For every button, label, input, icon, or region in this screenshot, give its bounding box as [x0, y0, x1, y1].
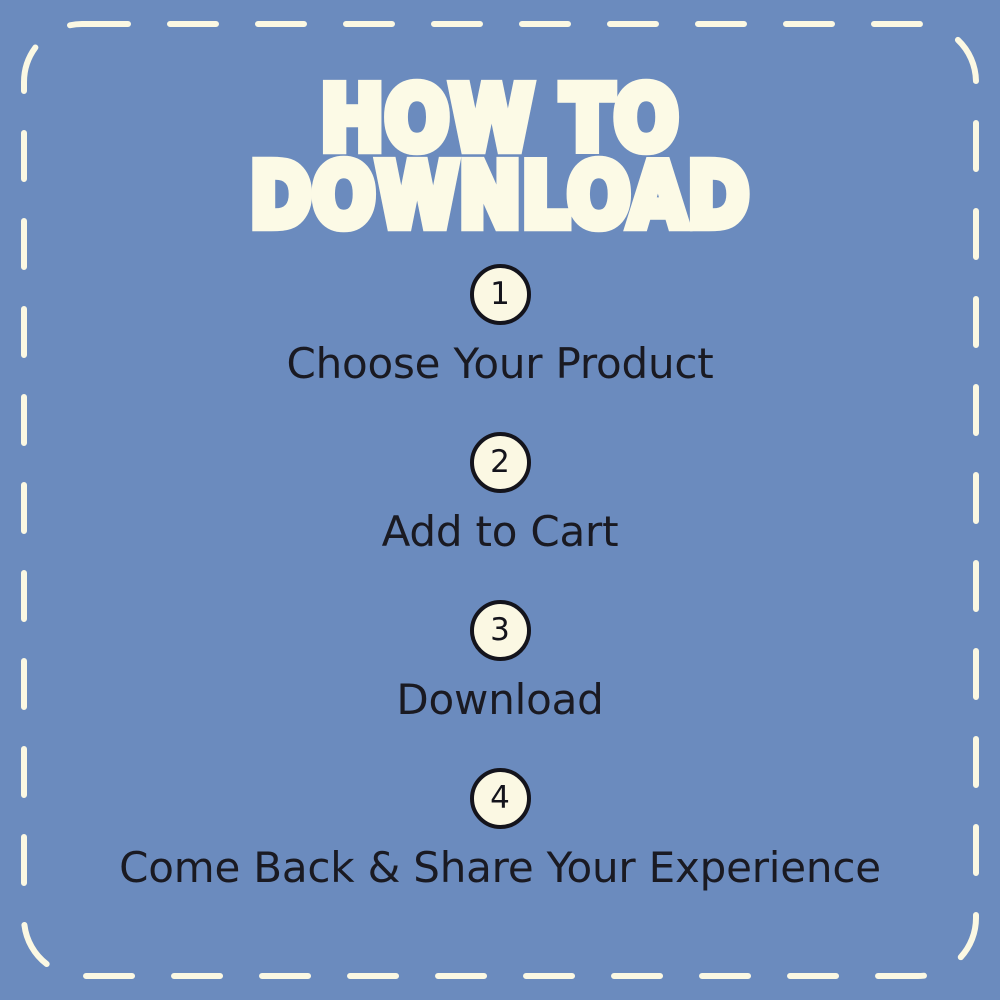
step-number-badge-3: 3: [470, 600, 531, 661]
step-number-badge-1: 1: [470, 264, 531, 325]
step-label-1: Choose Your Product: [0, 341, 1000, 387]
step-item-1: 1 Choose Your Product: [0, 255, 1000, 423]
step-number-badge-2: 2: [470, 432, 531, 493]
how-to-download-poster: HOW TO DOWNLOAD 1 Choose Your Product 2 …: [0, 0, 1000, 1000]
steps-list: 1 Choose Your Product 2 Add to Cart 3 Do…: [0, 255, 1000, 927]
step-item-3: 3 Download: [0, 591, 1000, 759]
step-number-1: 1: [474, 268, 527, 321]
step-label-3: Download: [0, 677, 1000, 723]
step-item-2: 2 Add to Cart: [0, 423, 1000, 591]
step-number-2: 2: [474, 436, 527, 489]
step-number-3: 3: [474, 604, 527, 657]
step-number-badge-4: 4: [470, 768, 531, 829]
title-line-download: DOWNLOAD: [0, 155, 1000, 239]
step-label-2: Add to Cart: [0, 509, 1000, 555]
step-number-4: 4: [474, 772, 527, 825]
page-title: HOW TO DOWNLOAD: [0, 78, 1000, 226]
step-item-4: 4 Come Back & Share Your Experience: [0, 759, 1000, 927]
step-label-4: Come Back & Share Your Experience: [0, 845, 1000, 891]
